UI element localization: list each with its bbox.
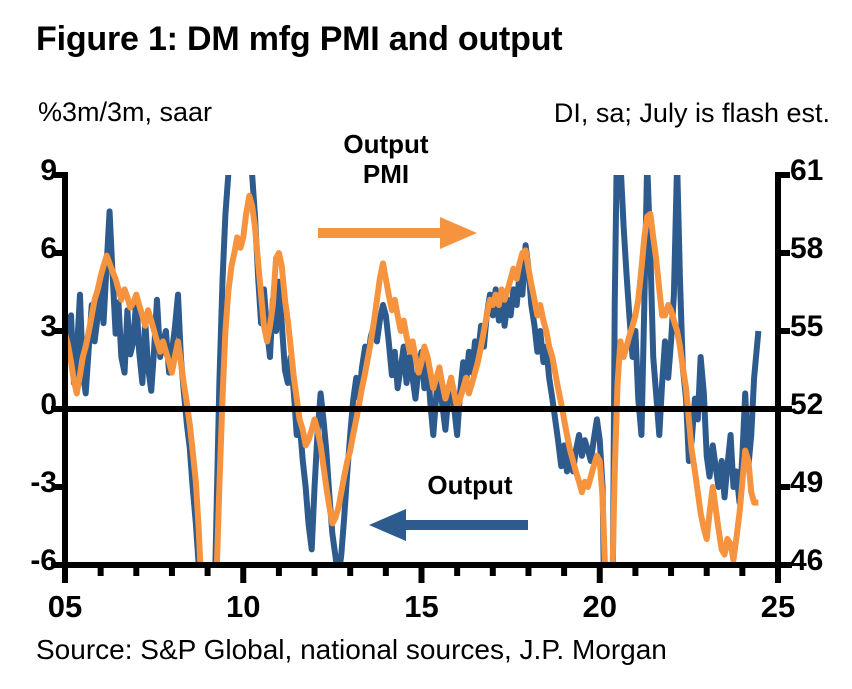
y-axis-left-tick-0: 0 bbox=[0, 388, 57, 422]
x-axis-tick-20: 20 bbox=[565, 589, 635, 625]
y-axis-right-tick-52: 52 bbox=[790, 388, 850, 422]
y-axis-right-tick-55: 55 bbox=[790, 310, 850, 344]
y-axis-left-tick--6: -6 bbox=[0, 544, 57, 578]
y-axis-left-tick-9: 9 bbox=[0, 154, 57, 188]
x-axis-tick-05: 05 bbox=[30, 589, 100, 625]
x-axis-tick-25: 25 bbox=[743, 589, 813, 625]
chart-plot-area bbox=[0, 0, 852, 689]
y-axis-right-tick-49: 49 bbox=[790, 466, 850, 500]
source-note: Source: S&P Global, national sources, J.… bbox=[36, 634, 667, 666]
y-axis-right-tick-46: 46 bbox=[790, 544, 850, 578]
y-axis-right-tick-61: 61 bbox=[790, 154, 850, 188]
figure-container: Figure 1: DM mfg PMI and output %3m/3m, … bbox=[0, 0, 852, 689]
y-axis-left-tick-6: 6 bbox=[0, 232, 57, 266]
x-axis-tick-15: 15 bbox=[387, 589, 457, 625]
y-axis-right-tick-58: 58 bbox=[790, 232, 850, 266]
y-axis-left-tick-3: 3 bbox=[0, 310, 57, 344]
y-axis-left-tick--3: -3 bbox=[0, 466, 57, 500]
x-axis-tick-10: 10 bbox=[208, 589, 278, 625]
